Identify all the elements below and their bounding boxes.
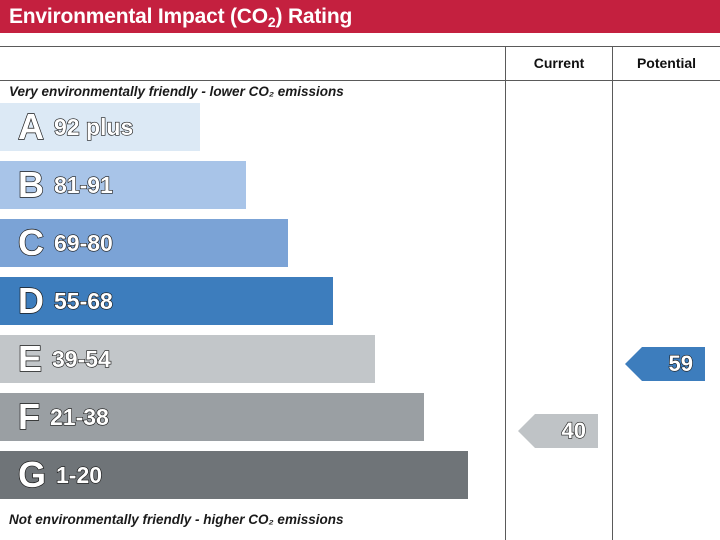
page-title-prefix: Environmental Impact (CO bbox=[9, 5, 268, 28]
rating-chart: Current Potential Very environmentally f… bbox=[0, 46, 720, 540]
band-range-a: 92 plus bbox=[54, 116, 133, 139]
band-letter-a: A bbox=[18, 109, 44, 145]
page-title-suffix: ) Rating bbox=[276, 5, 353, 28]
band-letter-e: E bbox=[18, 341, 42, 377]
band-letter-d: D bbox=[18, 283, 44, 319]
column-header-current: Current bbox=[506, 47, 612, 80]
current-column-divider bbox=[505, 46, 506, 540]
rating-band-a: A 92 plus bbox=[0, 103, 200, 151]
band-letter-b: B bbox=[18, 167, 44, 203]
potential-column-divider bbox=[612, 46, 613, 540]
band-range-f: 21-38 bbox=[50, 406, 109, 429]
page-title: Environmental Impact (CO2) Rating bbox=[0, 5, 352, 29]
potential-rating-arrow: 59 bbox=[625, 347, 705, 381]
rating-band-c: C 69-80 bbox=[0, 219, 288, 267]
band-range-b: 81-91 bbox=[54, 174, 113, 197]
band-range-g: 1-20 bbox=[56, 464, 102, 487]
potential-rating-value: 59 bbox=[669, 353, 705, 375]
band-range-d: 55-68 bbox=[54, 290, 113, 313]
current-rating-value: 40 bbox=[562, 420, 598, 442]
title-bar: Environmental Impact (CO2) Rating bbox=[0, 0, 720, 33]
rating-bands: A 92 plus B 81-91 C 69-80 D 55-68 E 39-5… bbox=[0, 103, 505, 508]
rating-band-b: B 81-91 bbox=[0, 161, 246, 209]
current-rating-arrow: 40 bbox=[518, 414, 598, 448]
page-title-subscript: 2 bbox=[268, 14, 276, 30]
band-range-c: 69-80 bbox=[54, 232, 113, 255]
column-header-potential: Potential bbox=[613, 47, 720, 80]
rating-band-g: G 1-20 bbox=[0, 451, 468, 499]
rating-band-f: F 21-38 bbox=[0, 393, 424, 441]
band-letter-g: G bbox=[18, 457, 46, 493]
rating-band-e: E 39-54 bbox=[0, 335, 375, 383]
band-letter-c: C bbox=[18, 225, 44, 261]
caption-not-friendly: Not environmentally friendly - higher CO… bbox=[9, 512, 343, 527]
caption-very-friendly: Very environmentally friendly - lower CO… bbox=[9, 84, 344, 99]
band-letter-f: F bbox=[18, 399, 40, 435]
band-range-e: 39-54 bbox=[52, 348, 111, 371]
rating-band-d: D 55-68 bbox=[0, 277, 333, 325]
